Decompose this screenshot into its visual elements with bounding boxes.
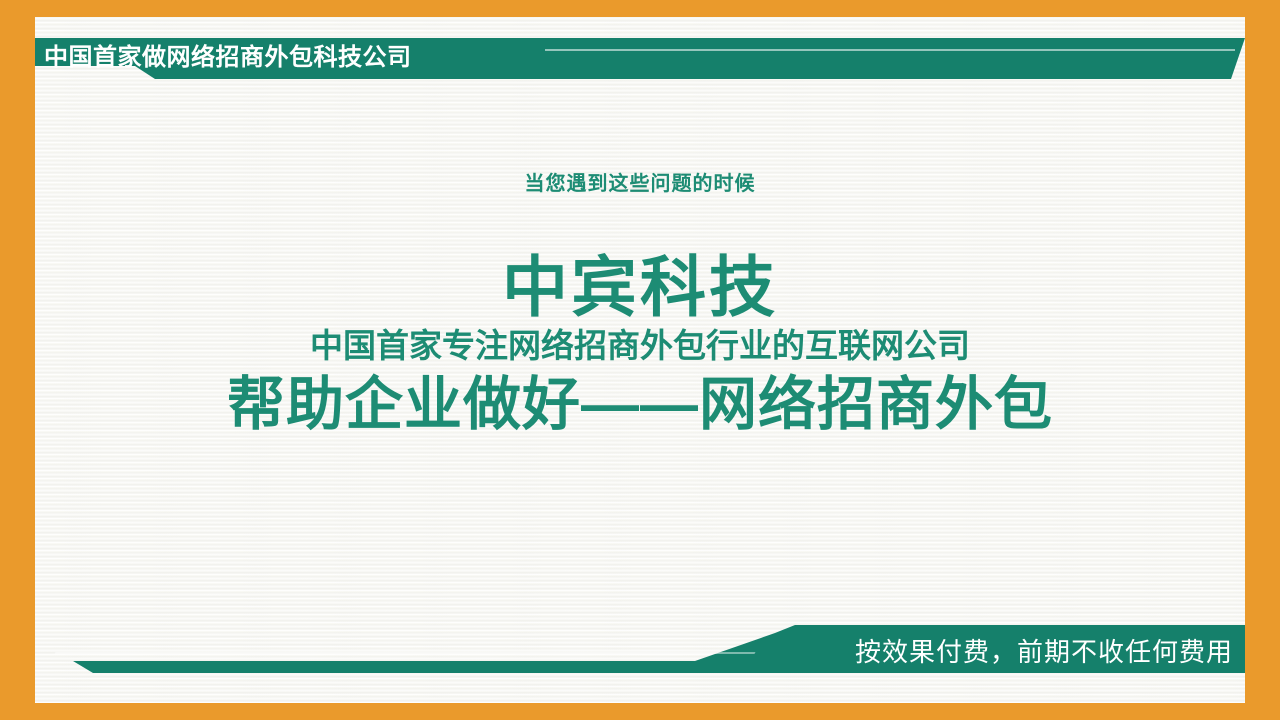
brand-subtitle: 中国首家专注网络招商外包行业的互联网公司 bbox=[35, 329, 1245, 362]
footer-tagline: 按效果付费，前期不收任何费用 bbox=[855, 635, 1233, 669]
footer-banner-hairline bbox=[54, 652, 755, 654]
header-title: 中国首家做网络招商外包科技公司 bbox=[44, 41, 514, 75]
slide-canvas: 中国首家做网络招商外包科技公司 当您遇到这些问题的时候 中宾科技 中国首家专注网… bbox=[35, 17, 1245, 703]
brand-name: 中宾科技 bbox=[35, 254, 1245, 320]
header-banner-hairline bbox=[545, 49, 1235, 51]
main-headline: 帮助企业做好——网络招商外包 bbox=[35, 372, 1245, 439]
slide-root: 中国首家做网络招商外包科技公司 当您遇到这些问题的时候 中宾科技 中国首家专注网… bbox=[0, 0, 1280, 720]
eyebrow-text: 当您遇到这些问题的时候 bbox=[35, 167, 1245, 196]
